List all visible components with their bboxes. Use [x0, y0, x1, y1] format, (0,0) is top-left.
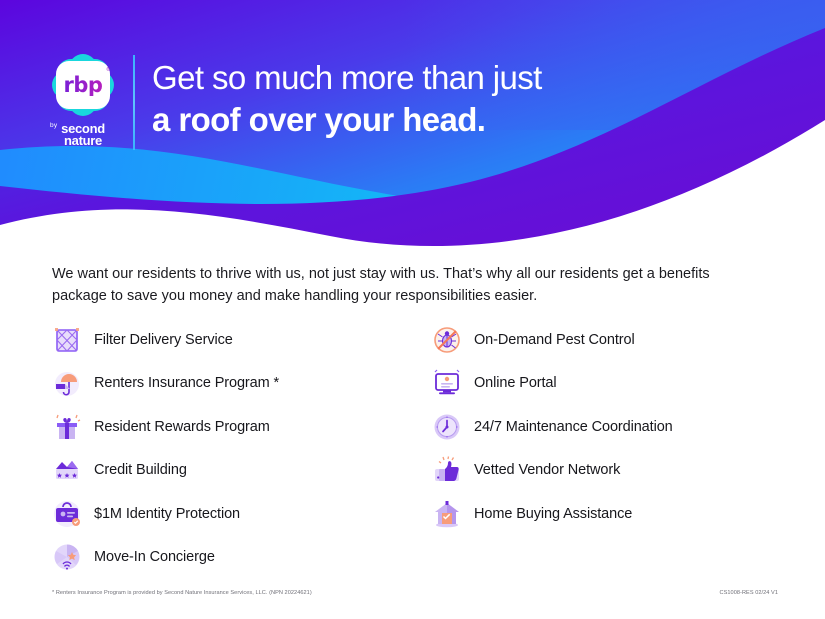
logo-company-line2: nature: [61, 135, 105, 147]
benefit-item: Filter Delivery Service: [52, 318, 432, 362]
footer-doc-code: CS1008-RES 02/24 V1: [720, 590, 778, 596]
benefit-label: Move-In Concierge: [94, 549, 215, 565]
logo-badge-icon: rbp ®: [50, 52, 116, 118]
hero-divider: [133, 55, 135, 150]
intro-paragraph: We want our residents to thrive with us,…: [52, 263, 752, 308]
benefit-label: On-Demand Pest Control: [474, 332, 635, 348]
gift-icon: [52, 412, 82, 442]
footer-disclaimer: * Renters Insurance Program is provided …: [52, 590, 312, 596]
logo-plate: rbp: [56, 61, 110, 109]
logo-company-name: second nature: [61, 123, 105, 148]
benefit-label: 24/7 Maintenance Coordination: [474, 419, 673, 435]
clock-icon: [432, 412, 462, 442]
benefit-item: Home Buying Assistance: [432, 492, 782, 536]
benefit-item: On-Demand Pest Control: [432, 318, 782, 362]
benefit-item: 24/7 Maintenance Coordination: [432, 405, 782, 449]
logo-trademark: ®: [106, 67, 110, 73]
hero-headline: Get so much more than just a roof over y…: [152, 57, 542, 141]
rbp-logo: rbp ® by second nature: [44, 52, 122, 147]
concierge-icon: [52, 542, 82, 572]
credit-stars-icon: [52, 455, 82, 485]
benefit-label: Resident Rewards Program: [94, 419, 270, 435]
footer: * Renters Insurance Program is provided …: [52, 590, 778, 596]
no-pest-icon: [432, 325, 462, 355]
benefits-section: Filter Delivery Service Renters Insuranc…: [52, 318, 782, 579]
headline-line-2: a roof over your head.: [152, 99, 542, 141]
benefit-label: Filter Delivery Service: [94, 332, 233, 348]
id-badge-icon: [52, 499, 82, 529]
hero-banner: rbp ® by second nature Get so much more …: [0, 0, 825, 250]
benefit-label: Home Buying Assistance: [474, 506, 632, 522]
headline-line-1: Get so much more than just: [152, 57, 542, 99]
umbrella-icon: [52, 368, 82, 398]
benefit-label: Vetted Vendor Network: [474, 462, 620, 478]
benefit-item: Resident Rewards Program: [52, 405, 432, 449]
house-icon: [432, 499, 462, 529]
benefit-item: Move-In Concierge: [52, 536, 432, 580]
benefit-item: Online Portal: [432, 362, 782, 406]
benefits-column-left: Filter Delivery Service Renters Insuranc…: [52, 318, 432, 579]
logo-mark-text: rbp: [64, 75, 103, 96]
benefit-item: Vetted Vendor Network: [432, 449, 782, 493]
thumbs-up-icon: [432, 455, 462, 485]
benefit-item: Credit Building: [52, 449, 432, 493]
benefit-item: $1M Identity Protection: [52, 492, 432, 536]
benefit-item: Renters Insurance Program *: [52, 362, 432, 406]
benefit-label: Online Portal: [474, 375, 557, 391]
benefit-label: $1M Identity Protection: [94, 506, 240, 522]
benefits-column-right: On-Demand Pest Control Online Portal: [432, 318, 782, 579]
benefit-label: Renters Insurance Program *: [94, 375, 279, 391]
benefit-label: Credit Building: [94, 462, 187, 478]
filter-icon: [52, 325, 82, 355]
monitor-icon: [432, 368, 462, 398]
logo-by-text: by: [50, 123, 57, 130]
flyer-page: rbp ® by second nature Get so much more …: [0, 0, 825, 619]
